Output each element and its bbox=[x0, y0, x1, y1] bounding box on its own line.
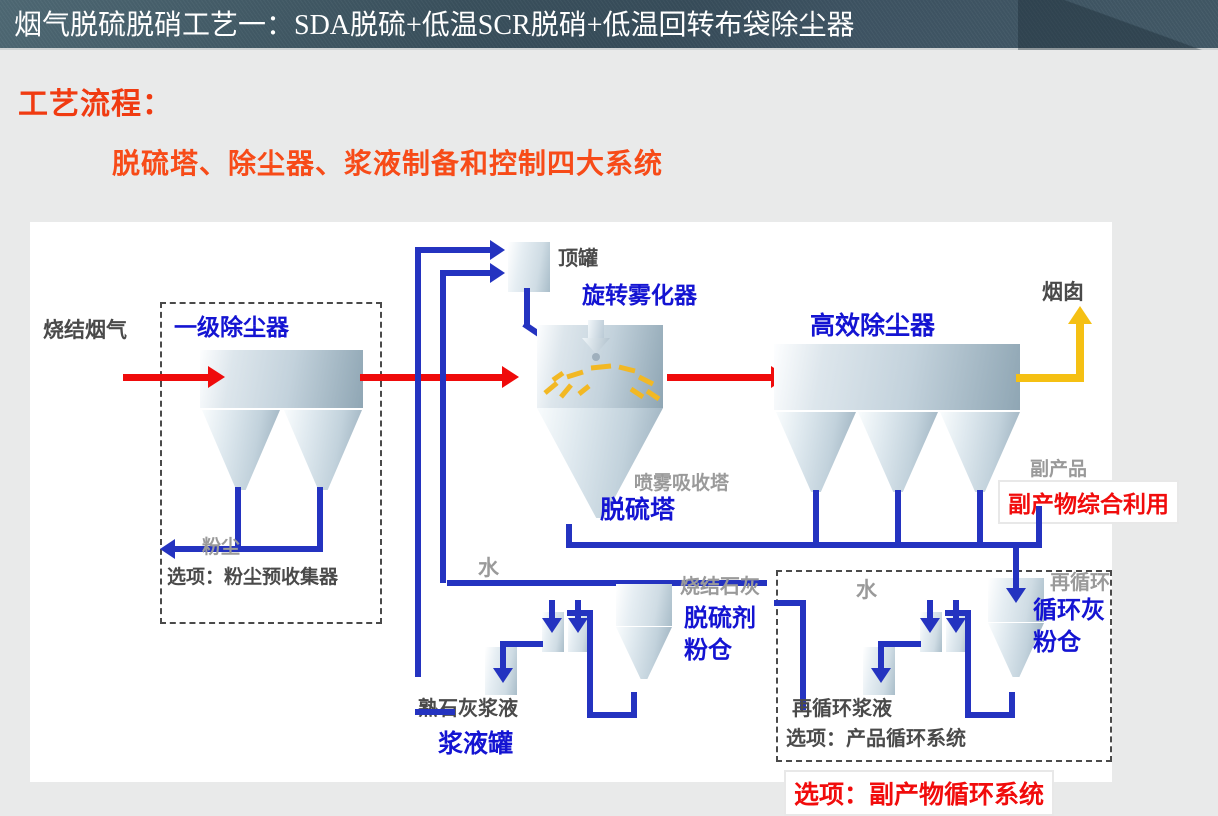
dosing-tank-1-arrow bbox=[542, 618, 562, 633]
feed-line-horizontal-1 bbox=[415, 247, 493, 253]
recycle-dosing-1-arrow bbox=[920, 618, 940, 633]
recycle-ash-silo-arrow bbox=[1006, 588, 1026, 603]
label-desulfurizer-silo-line1: 脱硫剂 bbox=[684, 598, 756, 633]
slurry-feed-from-left bbox=[415, 709, 455, 715]
feed-line-vertical-1 bbox=[415, 247, 421, 677]
label-top-tank: 顶罐 bbox=[558, 242, 598, 271]
label-byproduct-faint: 副产品 bbox=[1030, 454, 1087, 481]
label-sintered-lime-faint: 烧结石灰 bbox=[680, 570, 760, 599]
desulfurizer-silo-body bbox=[616, 584, 672, 626]
slurry-return-top bbox=[567, 610, 593, 616]
label-recycle-slurry: 再循环浆液 bbox=[792, 692, 892, 721]
byproduct-header-right-riser bbox=[1036, 506, 1042, 546]
spray-pattern-icon bbox=[535, 347, 675, 407]
top-tank-body bbox=[508, 242, 550, 292]
heading-four-systems: 脱硫塔、除尘器、浆液制备和控制四大系统 bbox=[112, 142, 663, 182]
recycle-slurry-feed-arrow bbox=[871, 668, 891, 683]
slurry-return-bottom bbox=[587, 712, 637, 718]
recycle-return-vertical bbox=[965, 610, 971, 718]
flue-gas-inlet-line bbox=[123, 374, 211, 381]
label-dust: 粉尘 bbox=[202, 532, 240, 559]
title-bar-corner-shade bbox=[1018, 0, 1218, 50]
recycle-dosing-2-arrow bbox=[946, 618, 966, 633]
label-high-efficiency-collector: 高效除尘器 bbox=[810, 306, 935, 342]
recycle-return-bottom bbox=[965, 712, 1015, 718]
title-bar: 烟气脱硫脱硝工艺一：SDA脱硫+低温SCR脱硝+低温回转布袋除尘器 bbox=[0, 0, 1218, 50]
recycle-slurry-feed-vertical bbox=[878, 641, 884, 671]
label-option-byproduct-recycle: 选项：副产物循环系统 bbox=[784, 770, 1054, 816]
high-efficiency-collector-body bbox=[774, 344, 1020, 410]
dosing-tank-1-feed bbox=[549, 600, 555, 620]
page-title: 烟气脱硫脱硝工艺一：SDA脱硫+低温SCR脱硝+低温回转布袋除尘器 bbox=[14, 3, 855, 43]
label-desulfurizer-silo-line2: 粉仓 bbox=[684, 630, 732, 665]
recycle-dosing-1-feed bbox=[927, 600, 933, 620]
label-desulfurization-tower: 脱硫塔 bbox=[600, 490, 675, 526]
recycle-return-top bbox=[945, 610, 971, 616]
byproduct-header-line bbox=[566, 542, 1042, 548]
slurry-return-riser bbox=[631, 692, 637, 718]
dust-outlet-line bbox=[174, 546, 323, 552]
process-flow-diagram: 烧结烟气 一级除尘器 粉尘 选项：粉尘预收集器 顶罐 旋转雾化器 bbox=[30, 222, 1112, 782]
hec-hopper-2-drop-line bbox=[895, 490, 901, 548]
chimney-line-horizontal bbox=[1016, 374, 1084, 382]
recycle-water-horizontal bbox=[774, 600, 806, 606]
flue-gas-mid-arrow-1 bbox=[502, 366, 519, 388]
chimney-arrow bbox=[1068, 306, 1092, 324]
heading-process-flow: 工艺流程： bbox=[18, 79, 173, 123]
label-slaked-lime-slurry: 熟石灰浆液 bbox=[418, 692, 518, 721]
label-option-pre-collector: 选项：粉尘预收集器 bbox=[167, 562, 338, 589]
flue-gas-mid-line-2 bbox=[667, 374, 774, 381]
chimney-line-vertical bbox=[1076, 322, 1084, 380]
dust-outlet-arrow bbox=[160, 539, 175, 559]
flue-gas-mid-line-1 bbox=[360, 374, 505, 381]
hec-hopper-2 bbox=[858, 412, 938, 492]
slurry-tank-feed-horizontal bbox=[500, 641, 543, 647]
feed-arrow-1 bbox=[490, 240, 505, 260]
label-water-left: 水 bbox=[478, 552, 499, 582]
recycle-ash-silo-feed bbox=[1013, 548, 1019, 592]
feed-line-vertical-2 bbox=[440, 270, 446, 583]
label-recycle-ash-silo-line1: 循环灰 bbox=[1033, 590, 1105, 625]
desulfurizer-silo-cone bbox=[616, 627, 672, 679]
flue-gas-inlet-arrow bbox=[208, 366, 225, 388]
hec-hopper-1-drop-line bbox=[813, 490, 819, 548]
slurry-tank-feed-arrow bbox=[493, 668, 513, 683]
primary-hopper-2-drop-line bbox=[317, 487, 323, 552]
byproduct-header-left-riser bbox=[566, 524, 572, 548]
hec-hopper-1 bbox=[776, 412, 856, 492]
label-inlet-gas: 烧结烟气 bbox=[43, 314, 127, 344]
recycle-slurry-feed-horizontal bbox=[878, 641, 921, 647]
label-recycle-ash-silo-line2: 粉仓 bbox=[1033, 622, 1081, 657]
label-option-product-recycle: 选项：产品循环系统 bbox=[786, 722, 966, 751]
slurry-return-vertical bbox=[587, 610, 593, 718]
label-water-right: 水 bbox=[856, 574, 877, 604]
dosing-tank-2-arrow bbox=[568, 618, 588, 633]
hec-hopper-3-drop-line bbox=[977, 490, 983, 548]
label-slurry-tank: 浆液罐 bbox=[438, 724, 513, 760]
label-rotary-atomizer: 旋转雾化器 bbox=[582, 276, 697, 310]
feed-arrow-2 bbox=[490, 263, 505, 283]
label-byproduct-utilization: 副产物综合利用 bbox=[998, 480, 1179, 524]
label-primary-dust-collector: 一级除尘器 bbox=[174, 308, 289, 342]
label-chimney: 烟囱 bbox=[1042, 276, 1084, 306]
atomizer-nozzle bbox=[588, 320, 604, 340]
slurry-tank-feed-vertical bbox=[500, 641, 506, 671]
recycle-return-riser bbox=[1009, 692, 1015, 718]
feed-line-horizontal-2 bbox=[440, 270, 493, 276]
